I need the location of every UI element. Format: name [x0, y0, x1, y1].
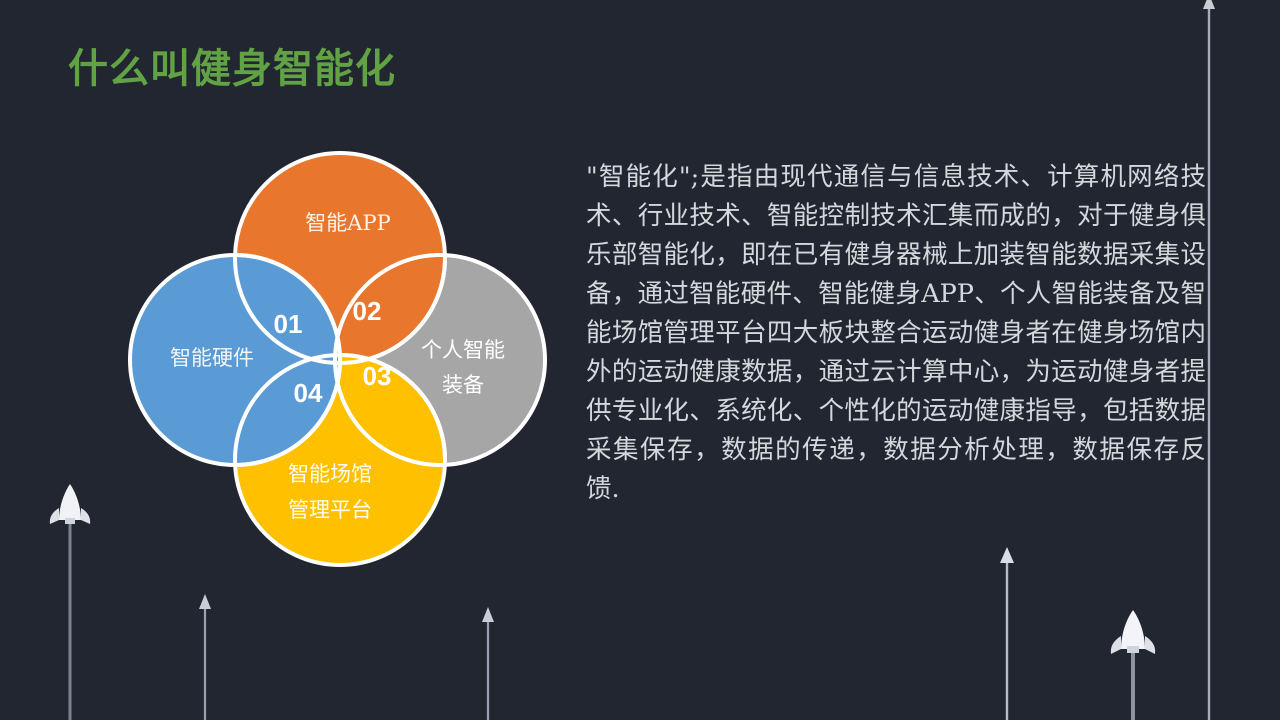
venn-label-venue-platform-line2: 管理平台: [288, 498, 372, 522]
venn-label-personal-gear-line1: 个人智能: [421, 338, 505, 362]
slide-canvas: 什么叫健身智能化: [0, 0, 1280, 720]
arrowhead-2-icon: [482, 607, 494, 622]
body-paragraph: "智能化";是指由现代通信与信息技术、计算机网络技术、行业技术、智能控制技术汇集…: [586, 158, 1206, 509]
arrowhead-4-icon: [1203, 0, 1215, 9]
venn-diagram: 01 02 03 04 智能硬件 智能APP 个人智能 装备 智能场馆 管理平台: [120, 140, 580, 580]
arrowhead-3-icon: [1000, 547, 1014, 563]
venn-label-venue-platform-line1: 智能场馆: [288, 462, 372, 486]
rocket-left-icon: [50, 484, 90, 524]
venn-number-02: 02: [353, 296, 382, 326]
venn-number-03: 03: [363, 361, 392, 391]
venn-number-01: 01: [274, 309, 303, 339]
venn-label-smart-app: 智能APP: [305, 211, 390, 235]
arrowhead-1-icon: [199, 594, 211, 609]
venn-label-personal-gear-line2: 装备: [442, 373, 484, 397]
page-title: 什么叫健身智能化: [68, 36, 396, 94]
rocket-right-icon: [1111, 610, 1155, 654]
venn-number-04: 04: [294, 378, 323, 408]
venn-label-smart-hardware: 智能硬件: [170, 346, 254, 370]
